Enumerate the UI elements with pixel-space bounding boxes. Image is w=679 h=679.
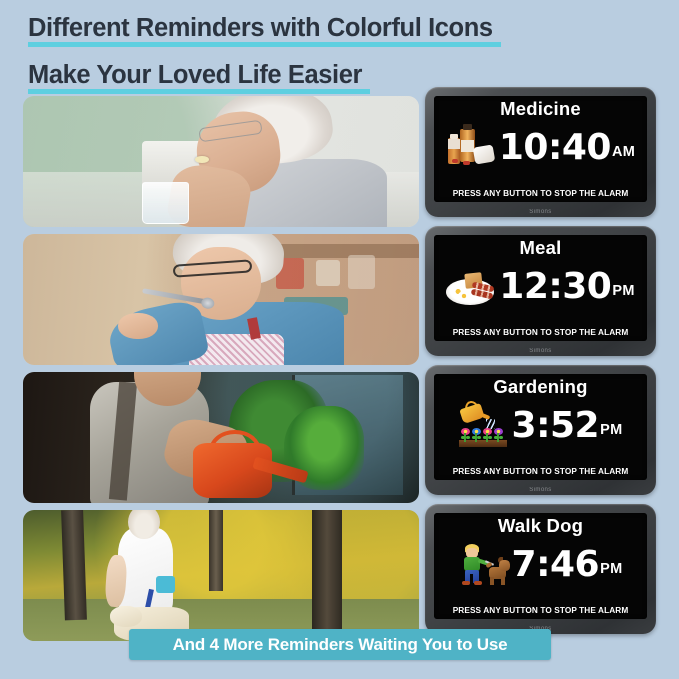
device-screen-medicine: Medicine 10:40 AM PRESS ANY BUTTON TO ST… [434,96,647,202]
reminder-title-gardening: Gardening [434,376,647,398]
more-reminders-banner-text: And 4 More Reminders Waiting You to Use [173,635,508,655]
watering-can-flowers-icon [459,404,511,448]
device-screen-meal: Meal 12:30 PM PRESS ANY BUTTON TO STOP T… [434,235,647,341]
photo2-hand [118,313,158,339]
headline-line-2-text: Make Your Loved Life Easier [28,61,362,89]
headline-block: Different Reminders with Colorful Icons … [28,10,648,95]
photo1-water-glass [142,182,190,224]
photo-taking-medicine [23,96,419,227]
photo3-scene [23,372,419,503]
reminder-title-meal: Meal [434,237,647,259]
reminder-clock-walk-dog: 7:46 [512,546,600,584]
photo-walking-dog [23,510,419,641]
photo4-tree-left [61,510,87,620]
dog-leg-1-icon [490,577,494,585]
device-brand-logo-gardening: Simons [425,487,656,493]
breakfast-plate-icon [446,265,498,309]
reminder-time-row-walk-dog: 7:46 PM [434,536,647,594]
pill-bottle-small-label [448,139,460,149]
photo-eating-meal [23,234,419,365]
photo2-jar-white [316,260,340,286]
headline-line-1-text: Different Reminders with Colorful Icons [28,14,493,42]
photo-column [23,96,419,641]
photo2-jar-cream [348,255,376,289]
reminder-time-row-gardening: 3:52 PM [434,397,647,455]
reminder-title-walk-dog: Walk Dog [434,515,647,537]
photo4-leash-handle [156,576,176,593]
photo1-scene [23,96,419,227]
headline-line-1: Different Reminders with Colorful Icons [28,10,493,48]
flower-4-icon [494,428,503,441]
flower-2-icon [472,428,481,441]
photo2-scene [23,234,419,365]
alarm-footer-medicine: PRESS ANY BUTTON TO STOP THE ALARM [438,188,642,198]
photo4-head [128,510,160,539]
reminder-ampm-gardening: PM [600,411,622,449]
reminder-ampm-walk-dog: PM [600,550,622,588]
dog-leg-2-icon [501,577,505,585]
person-walking-dog-icon [459,543,511,587]
photo4-scene [23,510,419,641]
headline-line-2: Make Your Loved Life Easier [28,57,362,95]
reminder-ampm-medicine: AM [612,133,635,171]
photo4-tree-mid [209,510,223,591]
reminder-time-row-medicine: 10:40 AM [434,119,647,177]
device-brand-logo-meal: Simons [425,348,656,354]
device-column: Medicine 10:40 AM PRESS ANY BUTTON TO ST… [425,87,656,634]
reminder-clock-gardening: 3:52 [512,407,600,445]
alarm-footer-gardening: PRESS ANY BUTTON TO STOP THE ALARM [438,466,642,476]
reminder-clock-meal: 12:30 [499,268,611,306]
person-shoe-1-icon [462,581,470,585]
flower-1-icon [461,428,470,441]
headline-underline-2 [28,89,370,94]
device-screen-gardening: Gardening [434,374,647,480]
more-reminders-banner: And 4 More Reminders Waiting You to Use [129,629,551,660]
pill-box-white-icon [473,144,496,164]
reminder-device-walk-dog: Walk Dog 7:46 [425,504,656,634]
reminder-time-row-meal: 12:30 PM [434,258,647,316]
reminder-ampm-meal: PM [612,272,634,310]
red-pill-1-icon [452,159,458,163]
photo4-dog-head [110,606,142,627]
photo4-tree-right [312,510,342,631]
red-pill-2-icon [463,161,470,165]
flower-3-icon [483,428,492,441]
device-brand-logo-medicine: Simons [425,209,656,215]
person-shirt-icon [464,557,480,571]
medicine-bottles-icon [446,126,498,170]
alarm-footer-meal: PRESS ANY BUTTON TO STOP THE ALARM [438,327,642,337]
reminder-title-medicine: Medicine [434,98,647,120]
reminder-device-medicine: Medicine 10:40 AM PRESS ANY BUTTON TO ST… [425,87,656,217]
person-shoe-2-icon [474,581,482,585]
reminder-device-gardening: Gardening [425,365,656,495]
pill-bottle-large-label [461,140,474,152]
reminder-device-meal: Meal 12:30 PM PRESS ANY BUTTON TO STOP T… [425,226,656,356]
dog-head-icon [499,560,510,571]
headline-underline-1 [28,42,501,47]
alarm-footer-walk-dog: PRESS ANY BUTTON TO STOP THE ALARM [438,605,642,615]
device-screen-walk-dog: Walk Dog 7:46 [434,513,647,619]
photo-gardening [23,372,419,503]
reminder-clock-medicine: 10:40 [499,129,611,167]
